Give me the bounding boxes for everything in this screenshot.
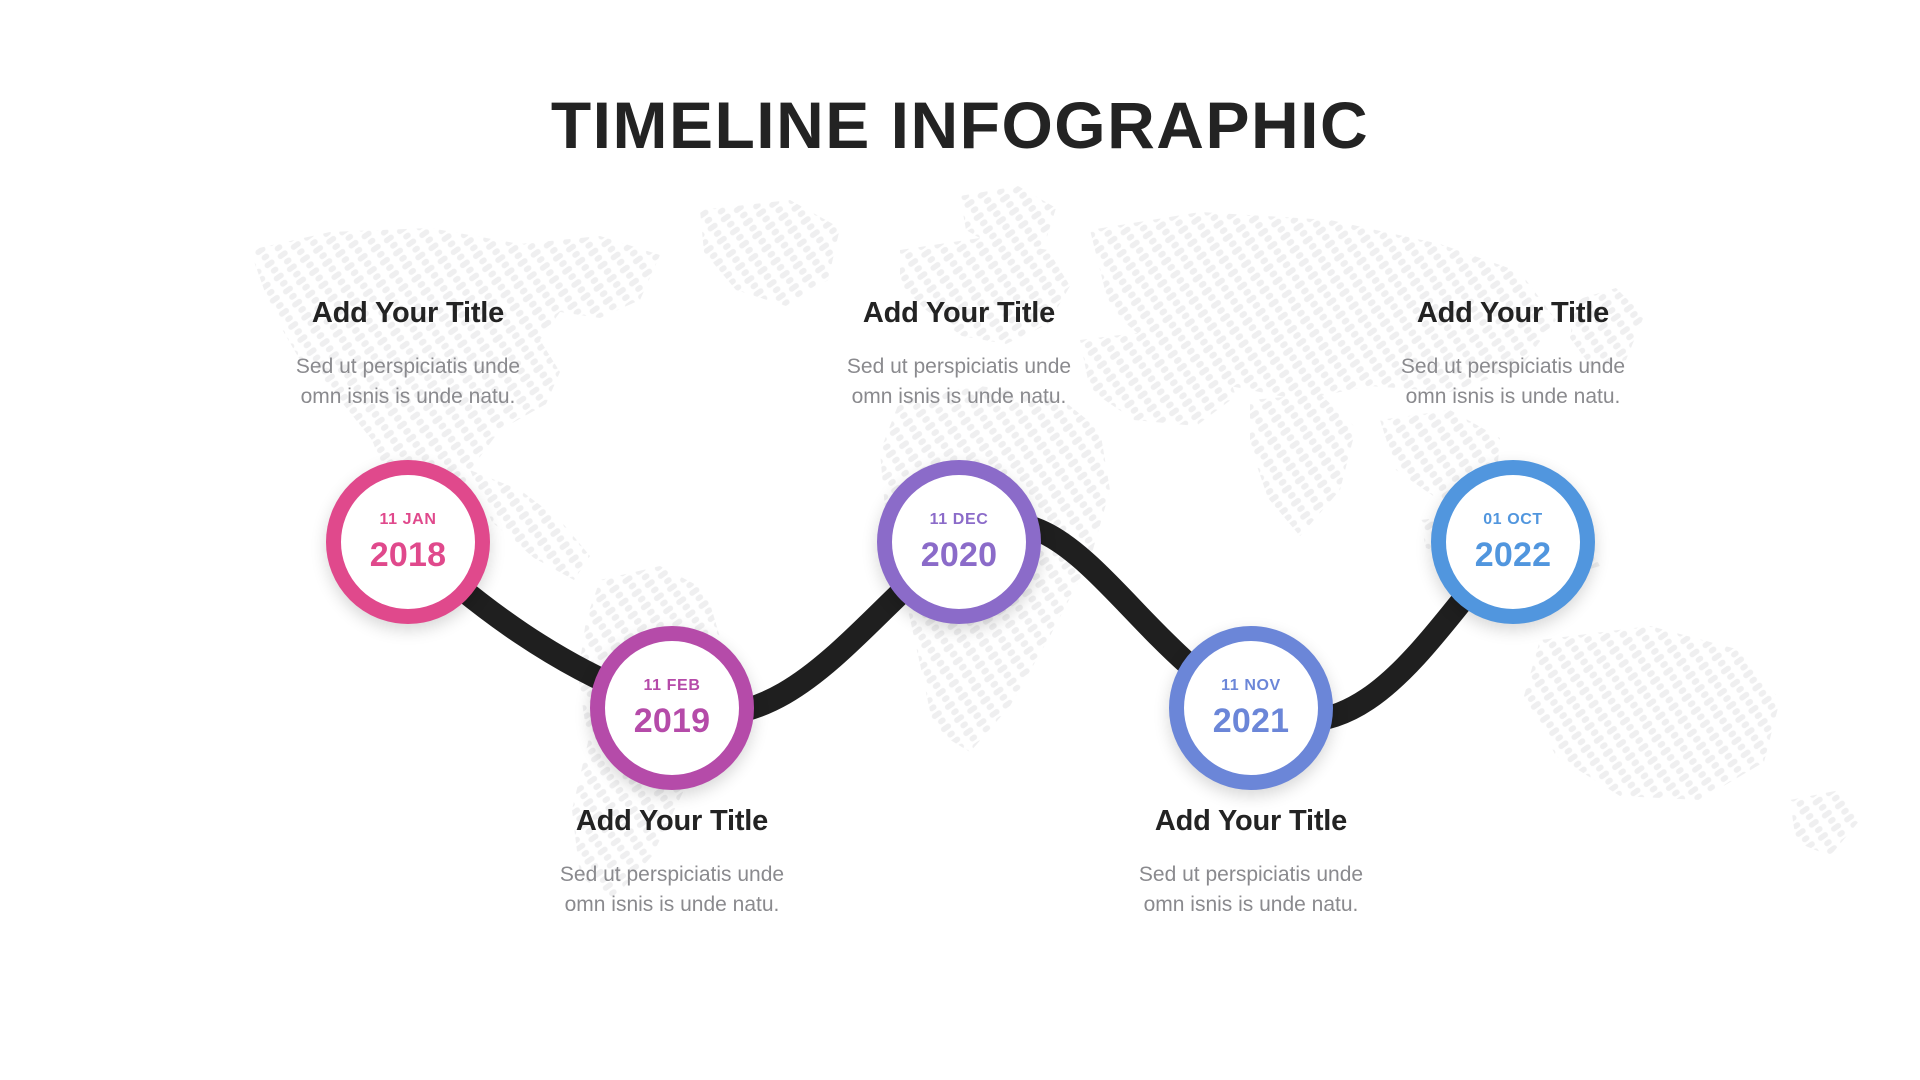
milestone-title-2018: Add Your Title	[243, 298, 573, 330]
milestone-title-2021: Add Your Title	[1086, 806, 1416, 838]
milestone-desc-line2-2022: omn isnis is unde natu.	[1348, 382, 1678, 412]
milestone-month-2020: 11 DEC	[930, 512, 989, 528]
milestone-month-2021: 11 NOV	[1221, 678, 1281, 694]
milestone-desc-line1-2021: Sed ut perspiciatis unde	[1086, 860, 1416, 890]
milestone-desc-line2-2018: omn isnis is unde natu.	[243, 382, 573, 412]
milestone-year-2018: 2018	[370, 538, 446, 572]
milestone-text-2022: Add Your Title Sed ut perspiciatis unde …	[1348, 298, 1678, 413]
milestone-desc-line1-2018: Sed ut perspiciatis unde	[243, 352, 573, 382]
infographic-canvas: TIMELINE INFOGRAPHIC 11 JAN 2018 Add You…	[0, 0, 1920, 1080]
milestone-desc-line2-2019: omn isnis is unde natu.	[507, 890, 837, 920]
milestone-node-2019[interactable]: 11 FEB 2019	[590, 626, 754, 790]
milestone-title-2019: Add Your Title	[507, 806, 837, 838]
milestone-text-2018: Add Your Title Sed ut perspiciatis unde …	[243, 298, 573, 413]
milestone-year-2019: 2019	[634, 704, 710, 738]
page-title: TIMELINE INFOGRAPHIC	[0, 92, 1920, 158]
milestone-desc-line1-2020: Sed ut perspiciatis unde	[794, 352, 1124, 382]
milestone-desc-line2-2021: omn isnis is unde natu.	[1086, 890, 1416, 920]
milestone-desc-line1-2022: Sed ut perspiciatis unde	[1348, 352, 1678, 382]
milestone-month-2022: 01 OCT	[1483, 512, 1543, 528]
milestone-node-2021[interactable]: 11 NOV 2021	[1169, 626, 1333, 790]
milestone-year-2020: 2020	[921, 538, 997, 572]
milestone-text-2021: Add Your Title Sed ut perspiciatis unde …	[1086, 806, 1416, 921]
milestone-title-2020: Add Your Title	[794, 298, 1124, 330]
milestone-text-2019: Add Your Title Sed ut perspiciatis unde …	[507, 806, 837, 921]
milestone-desc-line1-2019: Sed ut perspiciatis unde	[507, 860, 837, 890]
milestone-desc-line2-2020: omn isnis is unde natu.	[794, 382, 1124, 412]
milestone-node-2018[interactable]: 11 JAN 2018	[326, 460, 490, 624]
milestone-text-2020: Add Your Title Sed ut perspiciatis unde …	[794, 298, 1124, 413]
milestone-year-2022: 2022	[1475, 538, 1551, 572]
milestone-node-2022[interactable]: 01 OCT 2022	[1431, 460, 1595, 624]
milestone-title-2022: Add Your Title	[1348, 298, 1678, 330]
milestone-month-2018: 11 JAN	[380, 512, 437, 528]
milestone-year-2021: 2021	[1213, 704, 1289, 738]
milestone-month-2019: 11 FEB	[644, 678, 701, 694]
milestone-node-2020[interactable]: 11 DEC 2020	[877, 460, 1041, 624]
